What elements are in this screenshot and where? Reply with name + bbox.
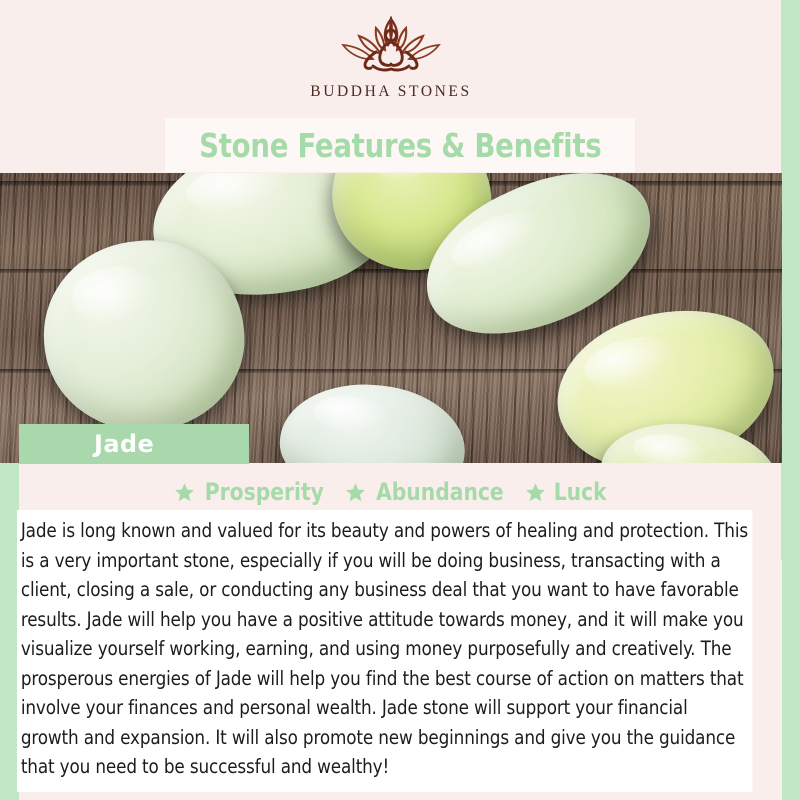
right-green-border: [781, 0, 800, 560]
stone-photo: [0, 173, 782, 463]
benefit-label: Abundance: [376, 478, 504, 506]
right-green-diagonal: [781, 558, 800, 584]
stone-info-card: BUDDHA STONES Stone Features & Benefits …: [0, 0, 800, 800]
benefit-item: Abundance: [345, 478, 508, 506]
stone-description: Jade is long known and valued for its be…: [17, 510, 752, 792]
page-title: Stone Features & Benefits: [199, 126, 601, 165]
star-icon: [525, 482, 546, 503]
benefits-row: Prosperity Abundance Luck: [0, 478, 782, 506]
lotus-meditation-logo-icon: [332, 14, 450, 76]
benefit-label: Luck: [553, 478, 606, 506]
title-banner: Stone Features & Benefits: [165, 118, 635, 172]
brand-name: BUDDHA STONES: [310, 83, 471, 101]
brand-header: BUDDHA STONES: [0, 0, 782, 118]
stone-name-band: Jade: [19, 424, 249, 464]
benefit-item: Luck: [525, 478, 608, 506]
star-icon: [174, 482, 195, 503]
star-icon: [345, 482, 366, 503]
benefit-item: Prosperity: [174, 478, 328, 506]
benefit-label: Prosperity: [205, 478, 324, 506]
stone-name-label: Jade: [94, 430, 154, 458]
